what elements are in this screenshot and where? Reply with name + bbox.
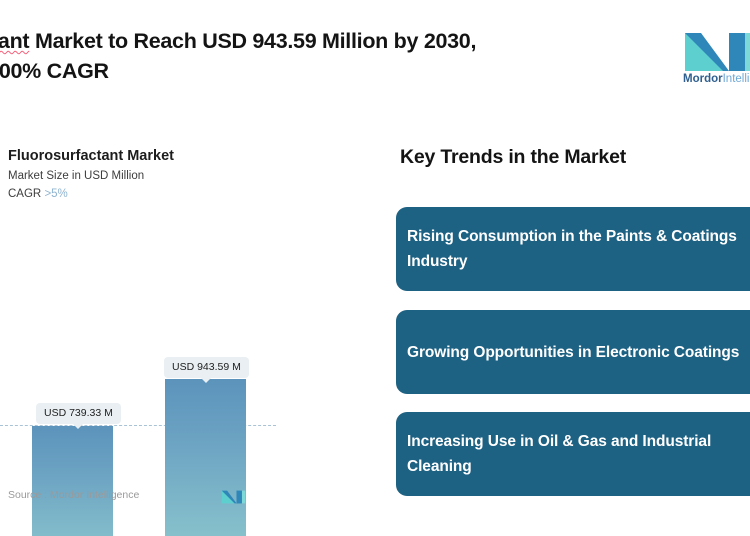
trend-card-1[interactable]: Rising Consumption in the Paints & Coati… xyxy=(396,207,750,291)
trend-card-2[interactable]: Growing Opportunities in Electronic Coat… xyxy=(396,310,750,394)
page-title-line1-rest: Market to Reach USD 943.59 Million by 20… xyxy=(29,29,476,53)
brand-logo: MordorIntelligence xyxy=(683,27,750,89)
bar-value-label-2030: USD 943.59 M xyxy=(164,357,249,378)
brand-name-primary: Mordor xyxy=(683,73,723,85)
trend-card-1-label: Rising Consumption in the Paints & Coati… xyxy=(396,224,750,274)
bar-2030 xyxy=(165,379,246,536)
key-trends-heading: Key Trends in the Market xyxy=(400,146,626,169)
page-title-line2: at a 5.00% CAGR xyxy=(0,59,109,83)
bar-2025 xyxy=(32,426,113,536)
page-title: urfactant Market to Reach USD 943.59 Mil… xyxy=(0,26,580,86)
infographic-canvas: urfactant Market to Reach USD 943.59 Mil… xyxy=(0,0,750,536)
trend-card-3[interactable]: Increasing Use in Oil & Gas and Industri… xyxy=(396,412,750,496)
mordor-m-logo-icon xyxy=(683,27,750,71)
key-trends-panel: Key Trends in the Market Rising Consumpt… xyxy=(396,130,750,536)
page-title-misspelled-fragment: urfactant xyxy=(0,29,29,53)
bar-value-label-2025: USD 739.33 M xyxy=(36,403,121,424)
trend-card-3-label: Increasing Use in Oil & Gas and Industri… xyxy=(396,429,750,479)
trend-card-2-label: Growing Opportunities in Electronic Coat… xyxy=(396,340,750,365)
brand-name-secondary: Intelligence xyxy=(723,73,750,85)
bar-chart-plot: USD 739.33 M USD 943.59 M 2025 2030 xyxy=(0,130,300,536)
mordor-m-mark-icon xyxy=(221,488,246,504)
brand-name: MordorIntelligence xyxy=(683,73,750,85)
chart-source: Source : Mordor Intelligence xyxy=(8,489,139,501)
chart-panel: Fluorosurfactant Market Market Size in U… xyxy=(0,130,300,536)
